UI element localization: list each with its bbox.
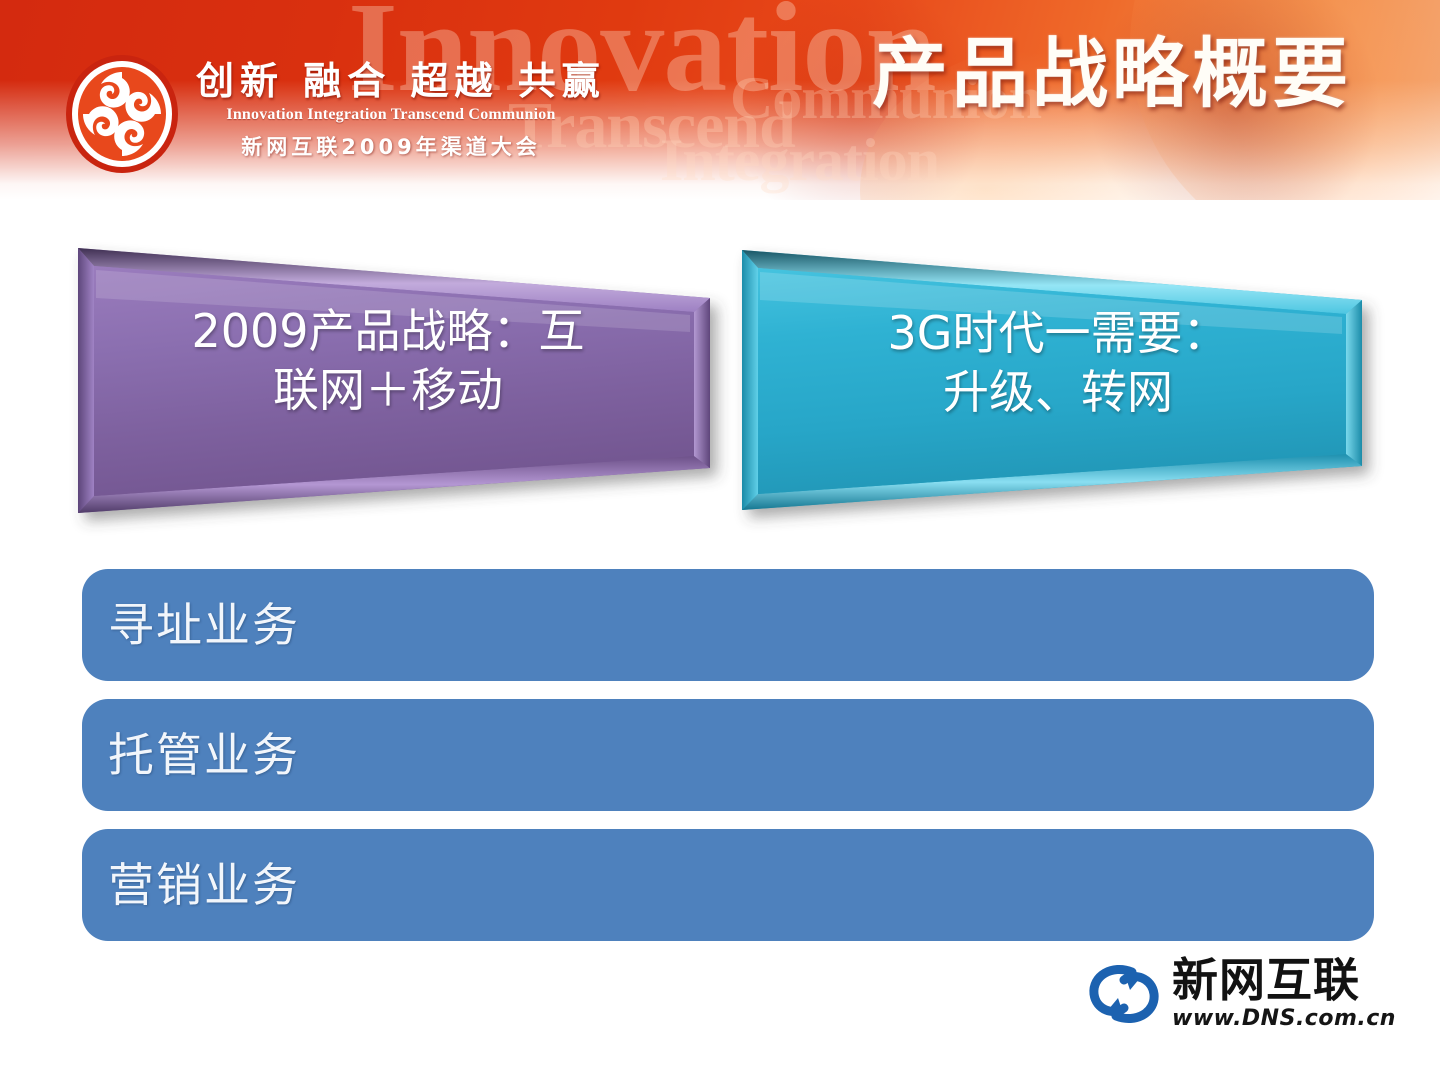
page-title: 产品战略概要 <box>872 36 1352 112</box>
business-bar-label: 托管业务 <box>108 732 300 778</box>
slide-header-banner: Innovation Communion Transcend Integrati… <box>0 0 1440 200</box>
strategy-banner-cyan[interactable]: 3G时代一需要： 升级、转网 <box>734 236 1376 526</box>
footer-brand-name: 新网互联 <box>1172 957 1396 1004</box>
footer-brand-logo: 新网互联 www.DNS.com.cn <box>1082 948 1382 1040</box>
lockup-slogan-cn: 创新 融合 超越 共赢 <box>196 62 586 102</box>
presentation-slide: Innovation Communion Transcend Integrati… <box>0 0 1440 1080</box>
strategy-banner-purple[interactable]: 2009产品战略：互 联网＋移动 <box>70 236 718 526</box>
xinnet-swirl-logo-icon <box>1082 952 1166 1036</box>
lockup-event-name: 新网互联2009年渠道大会 <box>196 131 586 161</box>
footer-brand-url: www.DNS.com.cn <box>1172 1006 1396 1031</box>
seal-emblem-icon <box>62 52 182 176</box>
lockup-slogan-en: Innovation Integration Transcend Communi… <box>196 106 586 124</box>
business-bar-item[interactable]: 托管业务 <box>82 699 1374 811</box>
watermark-integration: Integration <box>660 126 939 195</box>
business-bar-item[interactable]: 寻址业务 <box>82 569 1374 681</box>
business-bar-label: 营销业务 <box>108 862 300 908</box>
conference-lockup: 创新 融合 超越 共赢 Innovation Integration Trans… <box>196 62 586 161</box>
business-bar-label: 寻址业务 <box>108 602 300 648</box>
business-bar-item[interactable]: 营销业务 <box>82 829 1374 941</box>
